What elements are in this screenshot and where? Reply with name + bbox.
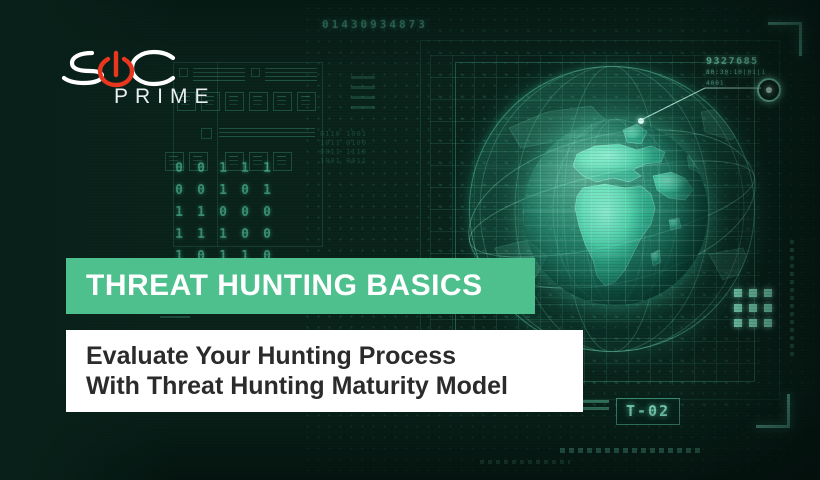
eyebrow-text: THREAT HUNTING BASICS [66, 269, 483, 303]
title-line-1: Evaluate Your Hunting Process [86, 341, 583, 371]
title-card: Evaluate Your Hunting Process With Threa… [66, 330, 583, 412]
title-line-2: With Threat Hunting Maturity Model [86, 371, 583, 401]
eyebrow-banner: THREAT HUNTING BASICS [66, 258, 535, 314]
soc-prime-wordmark: PRIME [114, 85, 216, 109]
threat-hunting-banner: 0110 1001 1011 0100 0011 1110 1001 0011 … [0, 0, 820, 480]
soc-prime-logo[interactable]: PRIME [58, 45, 178, 113]
